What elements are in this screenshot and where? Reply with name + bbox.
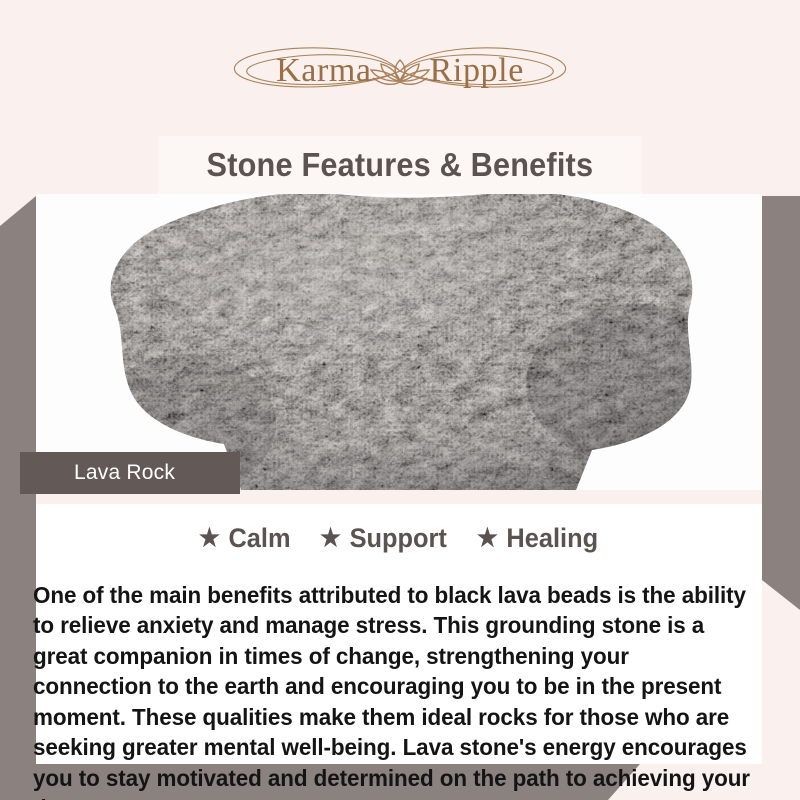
feature-list: ★ Calm ★ Support ★ Healing bbox=[36, 518, 762, 558]
star-icon: ★ bbox=[199, 526, 220, 551]
stone-benefits-poster: Karma Ripple Stone Features & Benefits bbox=[0, 0, 800, 800]
page-title: Stone Features & Benefits bbox=[207, 146, 594, 184]
photo-caption-label: Lava Rock bbox=[74, 461, 175, 485]
photo-caption: Lava Rock bbox=[20, 452, 240, 494]
poster-header: Karma Ripple Stone Features & Benefits bbox=[0, 0, 800, 196]
lava-rock-photo bbox=[36, 194, 762, 490]
feature-item-calm: ★ Calm bbox=[199, 523, 291, 554]
brand-name-right: Ripple bbox=[430, 54, 524, 88]
star-icon: ★ bbox=[477, 526, 498, 551]
brand-name-left: Karma bbox=[276, 54, 372, 88]
feature-label: Healing bbox=[506, 523, 598, 554]
title-banner: Stone Features & Benefits bbox=[158, 136, 642, 194]
benefits-paragraph: One of the main benefits attributed to b… bbox=[33, 580, 751, 800]
feature-item-healing: ★ Healing bbox=[477, 523, 598, 554]
brand-logo: Karma Ripple bbox=[0, 40, 800, 102]
frame-band-left bbox=[0, 196, 36, 800]
feature-label: Support bbox=[349, 523, 446, 554]
feature-label: Calm bbox=[229, 523, 291, 554]
brand-wordmark: Karma Ripple bbox=[0, 40, 800, 102]
star-icon: ★ bbox=[320, 526, 341, 551]
feature-item-support: ★ Support bbox=[320, 523, 447, 554]
